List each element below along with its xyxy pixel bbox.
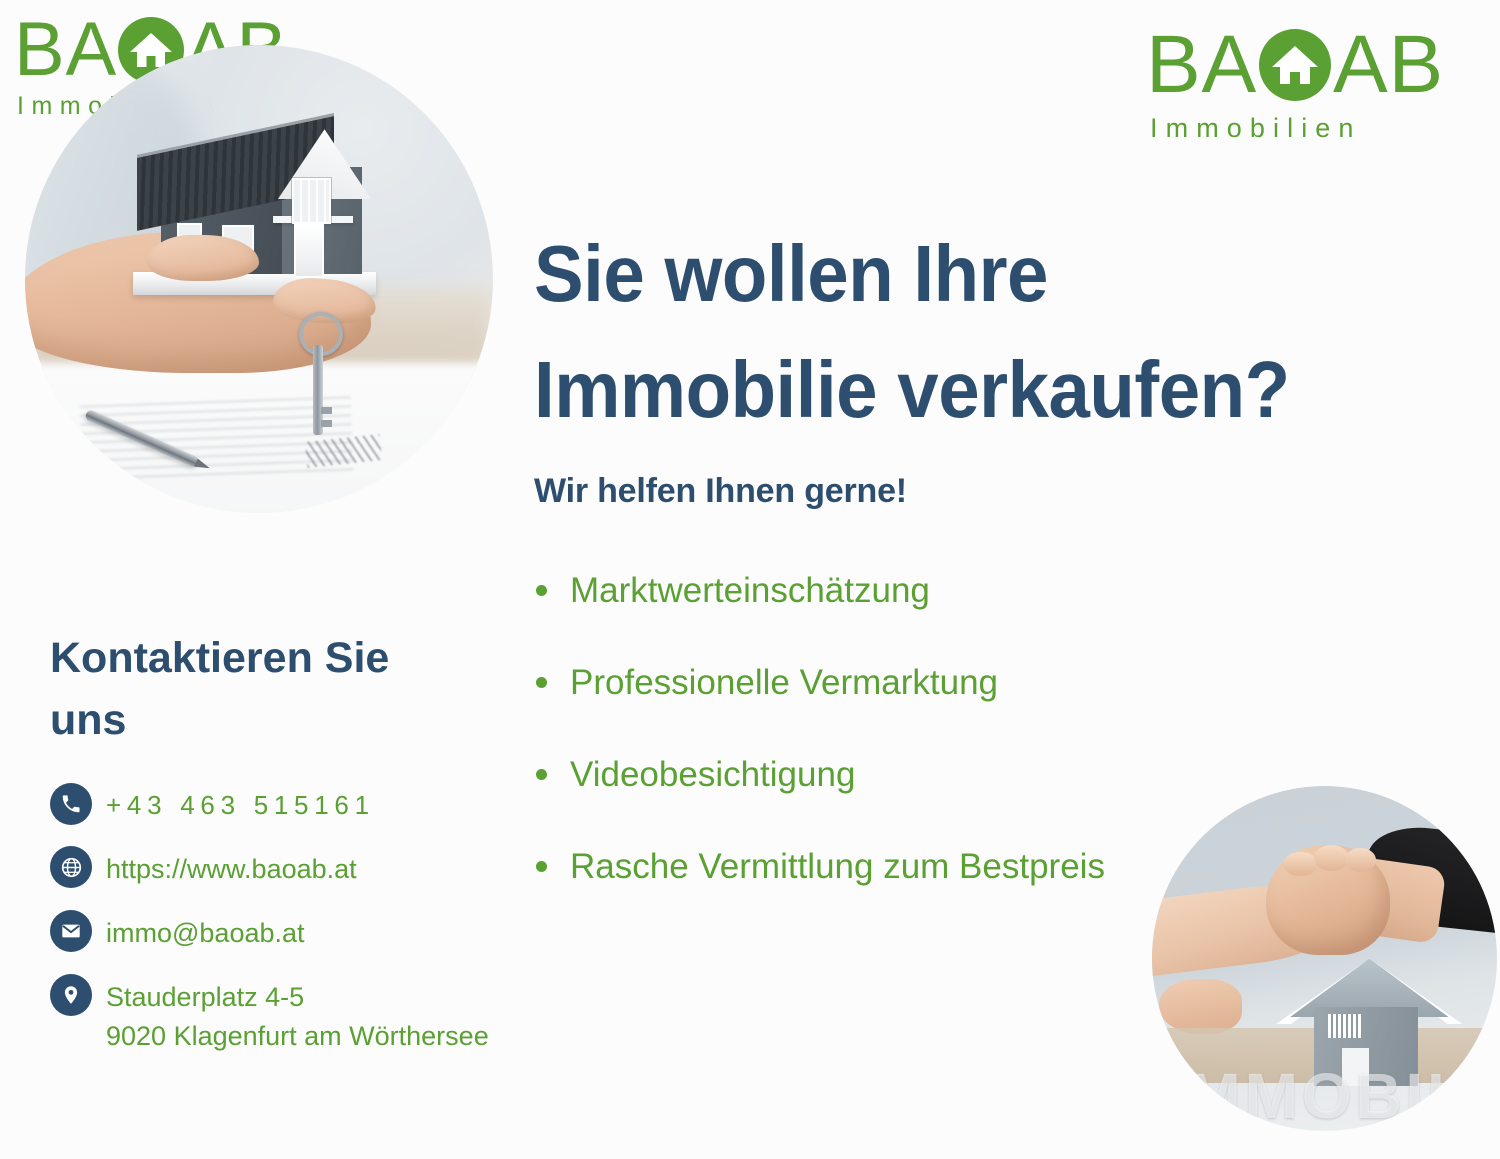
address-line-2: 9020 Klagenfurt am Wörthersee (106, 1017, 489, 1056)
mail-icon (50, 910, 92, 952)
phone-icon (50, 783, 92, 825)
house-in-circle-icon (1259, 29, 1331, 101)
brand-name-post: AB (1333, 26, 1444, 104)
address-line-1: Stauderplatz 4-5 (106, 982, 304, 1012)
list-item: Marktwerteinschätzung (528, 573, 1105, 608)
brand-tagline: Immobilien (1150, 113, 1362, 144)
benefits-list: Marktwerteinschätzung Professionelle Ver… (528, 573, 1105, 941)
map-pin-icon (50, 974, 92, 1016)
contact-address-row[interactable]: Stauderplatz 4-5 9020 Klagenfurt am Wört… (50, 974, 489, 1056)
phone-number: +43 463 515161 (106, 783, 375, 825)
contact-heading: Kontaktieren Sie uns (50, 627, 470, 752)
page-subtitle: Wir helfen Ihnen gerne! (534, 472, 907, 511)
globe-icon (50, 846, 92, 888)
list-item: Videobesichtigung (528, 757, 1105, 792)
contact-website-row[interactable]: https://www.baoab.at (50, 846, 489, 889)
contact-list: +43 463 515161 https://www.baoab.at (50, 783, 489, 1078)
list-item: Professionelle Vermarktung (528, 665, 1105, 700)
brand-logo-top-right: BA AB Immobilien (1146, 26, 1444, 144)
street-address: Stauderplatz 4-5 9020 Klagenfurt am Wört… (106, 974, 489, 1056)
website-url: https://www.baoab.at (106, 846, 357, 889)
page-title: Sie wollen Ihre Immobilie verkaufen? (534, 216, 1399, 448)
brand-wordmark: BA AB (1146, 26, 1444, 104)
contact-email-row[interactable]: immo@baoab.at (50, 910, 489, 953)
contact-phone-row[interactable]: +43 463 515161 (50, 783, 489, 825)
list-item: Rasche Vermittlung zum Bestpreis (528, 849, 1105, 884)
brand-name-pre: BA (1146, 26, 1257, 104)
hand-holding-model-house-photo (25, 45, 493, 513)
handshake-photo: IMMOBIL (1152, 786, 1497, 1131)
photo-watermark: IMMOBIL (1166, 1059, 1497, 1131)
email-address: immo@baoab.at (106, 910, 305, 953)
advertisement-poster: BA AB Immobilien BA AB Immobilien (0, 0, 1500, 1159)
